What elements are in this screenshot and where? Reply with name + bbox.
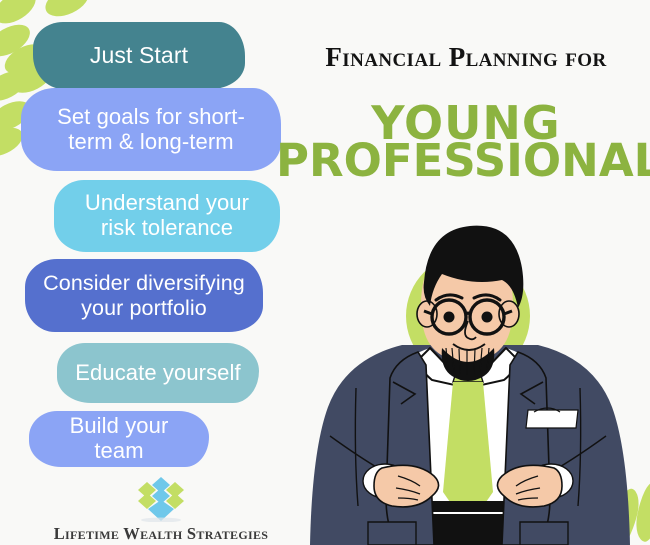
waistband	[430, 501, 506, 545]
tip-label: Set goals for short-term & long-term	[37, 105, 265, 154]
jacket-pocket-left	[368, 522, 416, 545]
tip-label: Build your team	[45, 414, 193, 463]
brand-logo: Lifetime Wealth Strategies	[30, 476, 292, 544]
tip-pill-6[interactable]: Build your team	[29, 411, 209, 467]
jacket-lapel-right	[502, 352, 550, 545]
tip-pill-3[interactable]: Understand your risk tolerance	[54, 180, 280, 252]
jacket-lapel-left	[386, 352, 434, 545]
leaf-icon	[41, 0, 94, 23]
tip-pill-4[interactable]: Consider diversifying your portfolio	[25, 259, 263, 332]
businessman-illustration	[290, 196, 650, 545]
tip-label: Educate yourself	[73, 361, 243, 386]
tip-pill-1[interactable]: Just Start	[33, 22, 245, 89]
logo-mark-icon	[129, 476, 193, 522]
headline-line-2: PROFESSIONALS	[276, 138, 650, 183]
eye-left	[444, 312, 455, 323]
pocket-square	[526, 410, 578, 428]
tip-label: Consider diversifying your portfolio	[41, 271, 247, 319]
tip-pill-5[interactable]: Educate yourself	[57, 343, 259, 403]
tip-label: Just Start	[49, 43, 229, 69]
logo-shadow	[141, 518, 181, 523]
infographic-canvas: Just Start Set goals for short-term & lo…	[0, 0, 650, 545]
brand-name: Lifetime Wealth Strategies	[30, 524, 292, 544]
eye-right	[482, 312, 493, 323]
tip-pill-2[interactable]: Set goals for short-term & long-term	[21, 88, 281, 171]
tip-label: Understand your risk tolerance	[70, 191, 264, 240]
page-eyebrow-title: Financial Planning for	[286, 42, 646, 73]
jacket-pocket-right	[520, 522, 568, 545]
